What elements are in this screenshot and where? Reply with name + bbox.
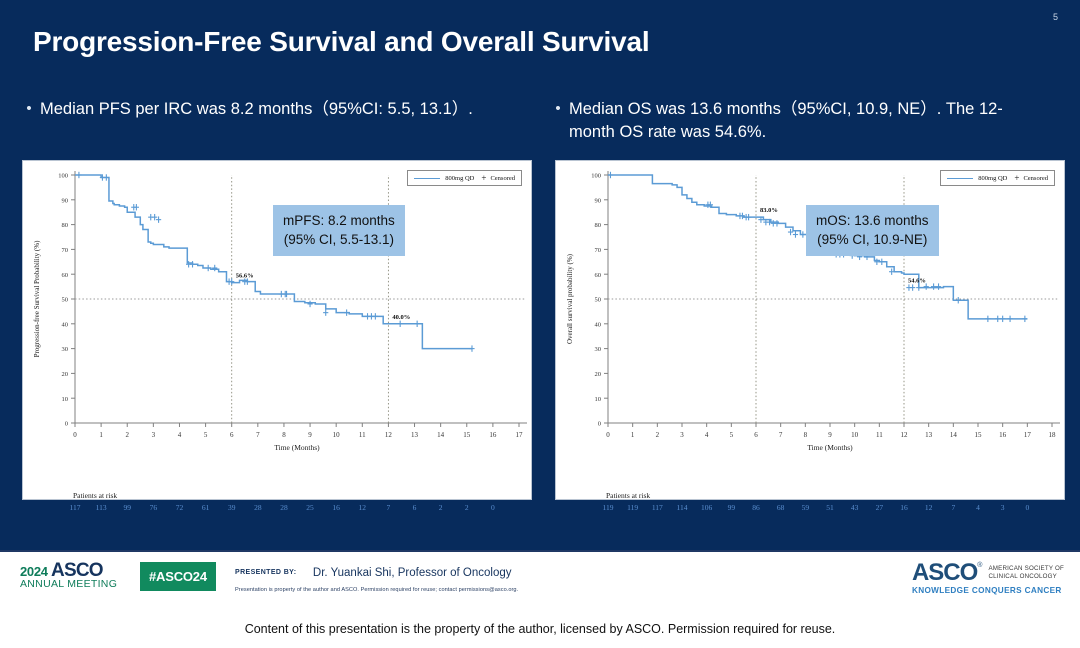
svg-text:40.0%: 40.0% bbox=[392, 314, 410, 321]
svg-text:13: 13 bbox=[925, 431, 933, 439]
legend-censored-label: Censored bbox=[490, 175, 515, 182]
svg-text:Overall survival probability (: Overall survival probability (%) bbox=[566, 253, 574, 344]
hashtag-badge: #ASCO24 bbox=[140, 562, 216, 591]
svg-text:5: 5 bbox=[204, 431, 208, 439]
legend-censored-icon: + bbox=[481, 173, 486, 183]
risk-value: 76 bbox=[150, 503, 158, 512]
permission-note: Presentation is property of the author a… bbox=[235, 587, 518, 593]
svg-text:17: 17 bbox=[1024, 431, 1032, 439]
svg-text:3: 3 bbox=[680, 431, 684, 439]
risk-value: 16 bbox=[332, 503, 340, 512]
risk-value: 51 bbox=[826, 503, 834, 512]
risk-value: 99 bbox=[728, 503, 736, 512]
asco-brand-logo: ASCO ® AMERICAN SOCIETY OF CLINICAL ONCO… bbox=[912, 562, 1064, 595]
svg-text:90: 90 bbox=[595, 197, 602, 204]
svg-text:50: 50 bbox=[62, 297, 69, 304]
risk-value: 12 bbox=[359, 503, 367, 512]
svg-text:10: 10 bbox=[62, 396, 69, 403]
risk-value: 86 bbox=[752, 503, 760, 512]
bullet-text-os: Median OS was 13.6 months（95%CI, 10.9, N… bbox=[569, 98, 1039, 144]
presenter-name: Dr. Yuankai Shi, Professor of Oncology bbox=[313, 567, 512, 579]
svg-text:83.0%: 83.0% bbox=[760, 207, 778, 214]
svg-text:8: 8 bbox=[804, 431, 808, 439]
risk-value: 6 bbox=[413, 503, 417, 512]
os-risk-values: 1191191171141069986685951432716127430 bbox=[556, 503, 1064, 515]
risk-value: 117 bbox=[70, 503, 81, 512]
risk-value: 0 bbox=[491, 503, 495, 512]
svg-text:10: 10 bbox=[333, 431, 341, 439]
svg-text:16: 16 bbox=[999, 431, 1007, 439]
risk-value: 25 bbox=[306, 503, 314, 512]
bullet-marker-icon: • bbox=[547, 98, 569, 144]
svg-text:80: 80 bbox=[595, 222, 602, 229]
page-number: 5 bbox=[1053, 12, 1058, 22]
asco-wordmark: ASCO bbox=[912, 562, 977, 584]
svg-text:12: 12 bbox=[901, 431, 909, 439]
bullet-item-os: • Median OS was 13.6 months（95%CI, 10.9,… bbox=[547, 98, 1062, 144]
svg-text:3: 3 bbox=[152, 431, 156, 439]
svg-text:16: 16 bbox=[489, 431, 497, 439]
svg-text:60: 60 bbox=[62, 272, 69, 279]
svg-text:4: 4 bbox=[705, 431, 709, 439]
legend-line-icon bbox=[414, 178, 440, 179]
svg-text:Time (Months): Time (Months) bbox=[274, 443, 320, 452]
registered-mark-icon: ® bbox=[977, 562, 982, 569]
legend-censored-label: Censored bbox=[1023, 175, 1048, 182]
asco-brand-subtitle: AMERICAN SOCIETY OF CLINICAL ONCOLOGY bbox=[988, 565, 1064, 580]
bullet-list: • Median PFS per IRC was 8.2 months（95%C… bbox=[18, 98, 1062, 144]
bullet-text-pfs: Median PFS per IRC was 8.2 months（95%CI:… bbox=[40, 98, 473, 144]
svg-text:17: 17 bbox=[516, 431, 524, 439]
svg-text:40: 40 bbox=[62, 321, 69, 328]
svg-text:20: 20 bbox=[62, 371, 69, 378]
legend-series-label: 800mg QD bbox=[445, 175, 474, 182]
risk-value: 7 bbox=[951, 503, 955, 512]
svg-text:0: 0 bbox=[606, 431, 610, 439]
svg-text:15: 15 bbox=[463, 431, 471, 439]
legend-censored-icon: + bbox=[1014, 173, 1019, 183]
svg-text:12: 12 bbox=[385, 431, 393, 439]
meeting-year: 2024 bbox=[20, 564, 48, 579]
svg-text:11: 11 bbox=[876, 431, 883, 439]
risk-value: 7 bbox=[387, 503, 391, 512]
risk-value: 12 bbox=[925, 503, 933, 512]
risk-value: 106 bbox=[701, 503, 712, 512]
svg-text:13: 13 bbox=[411, 431, 419, 439]
svg-text:100: 100 bbox=[58, 173, 68, 180]
svg-text:6: 6 bbox=[754, 431, 758, 439]
svg-text:30: 30 bbox=[595, 346, 602, 353]
svg-text:11: 11 bbox=[359, 431, 366, 439]
risk-value: 16 bbox=[900, 503, 908, 512]
svg-text:5: 5 bbox=[730, 431, 734, 439]
svg-text:56.6%: 56.6% bbox=[236, 273, 254, 280]
pfs-risk-title: Patients at risk bbox=[73, 491, 117, 500]
presented-by-label: PRESENTED BY: bbox=[235, 569, 296, 576]
os-callout: mOS: 13.6 months (95% CI, 10.9-NE) bbox=[806, 205, 939, 256]
meeting-sub: ANNUAL MEETING bbox=[20, 578, 117, 591]
svg-text:18: 18 bbox=[1049, 431, 1057, 439]
svg-text:7: 7 bbox=[779, 431, 783, 439]
svg-text:30: 30 bbox=[62, 346, 69, 353]
pfs-callout-line2: (95% CI, 5.5-13.1) bbox=[283, 230, 395, 249]
os-legend: 800mg QD + Censored bbox=[940, 170, 1055, 186]
risk-value: 114 bbox=[677, 503, 688, 512]
os-callout-line2: (95% CI, 10.9-NE) bbox=[816, 230, 929, 249]
risk-value: 72 bbox=[176, 503, 184, 512]
pfs-callout-line1: mPFS: 8.2 months bbox=[283, 211, 395, 230]
risk-value: 27 bbox=[876, 503, 884, 512]
svg-text:90: 90 bbox=[62, 197, 69, 204]
svg-text:50: 50 bbox=[595, 297, 602, 304]
risk-value: 28 bbox=[254, 503, 262, 512]
svg-text:40: 40 bbox=[595, 321, 602, 328]
risk-value: 39 bbox=[228, 503, 236, 512]
svg-text:4: 4 bbox=[178, 431, 182, 439]
risk-value: 117 bbox=[652, 503, 663, 512]
risk-value: 119 bbox=[627, 503, 638, 512]
svg-text:60: 60 bbox=[595, 272, 602, 279]
brand-sub-line2: CLINICAL ONCOLOGY bbox=[988, 573, 1057, 580]
chart-panel-os: 0102030405060708090100012345678910111213… bbox=[555, 160, 1065, 500]
legend-line-icon bbox=[947, 178, 973, 179]
svg-text:20: 20 bbox=[595, 371, 602, 378]
svg-text:80: 80 bbox=[62, 222, 69, 229]
risk-value: 68 bbox=[777, 503, 785, 512]
pfs-legend: 800mg QD + Censored bbox=[407, 170, 522, 186]
risk-value: 43 bbox=[851, 503, 859, 512]
risk-value: 4 bbox=[976, 503, 980, 512]
svg-text:1: 1 bbox=[99, 431, 103, 439]
os-risk-title: Patients at risk bbox=[606, 491, 650, 500]
presenter-block: PRESENTED BY: Dr. Yuankai Shi, Professor… bbox=[235, 564, 518, 593]
svg-text:Progression-free Survival Prob: Progression-free Survival Probability (%… bbox=[33, 240, 41, 358]
risk-value: 28 bbox=[280, 503, 288, 512]
svg-text:15: 15 bbox=[975, 431, 983, 439]
svg-text:2: 2 bbox=[656, 431, 660, 439]
license-text: Content of this presentation is the prop… bbox=[0, 622, 1080, 636]
risk-value: 2 bbox=[439, 503, 443, 512]
svg-text:7: 7 bbox=[256, 431, 260, 439]
risk-value: 3 bbox=[1001, 503, 1005, 512]
footer-divider bbox=[0, 550, 1080, 552]
risk-value: 2 bbox=[465, 503, 469, 512]
page-title: Progression-Free Survival and Overall Su… bbox=[33, 26, 649, 58]
svg-text:70: 70 bbox=[595, 247, 602, 254]
svg-text:70: 70 bbox=[62, 247, 69, 254]
svg-text:9: 9 bbox=[308, 431, 312, 439]
risk-value: 113 bbox=[96, 503, 107, 512]
pfs-risk-values: 1171139976726139282825161276220 bbox=[23, 503, 531, 515]
chart-panel-pfs: 0102030405060708090100012345678910111213… bbox=[22, 160, 532, 500]
svg-text:8: 8 bbox=[282, 431, 286, 439]
asco-tagline: KNOWLEDGE CONQUERS CANCER bbox=[912, 586, 1064, 595]
svg-text:10: 10 bbox=[595, 396, 602, 403]
svg-text:54.6%: 54.6% bbox=[908, 278, 926, 285]
svg-text:2: 2 bbox=[125, 431, 129, 439]
svg-text:9: 9 bbox=[828, 431, 832, 439]
svg-text:6: 6 bbox=[230, 431, 234, 439]
legend-series-label: 800mg QD bbox=[978, 175, 1007, 182]
svg-text:0: 0 bbox=[65, 421, 68, 428]
svg-text:10: 10 bbox=[851, 431, 859, 439]
risk-value: 99 bbox=[123, 503, 131, 512]
svg-text:0: 0 bbox=[598, 421, 601, 428]
bullet-marker-icon: • bbox=[18, 98, 40, 144]
asco-annual-meeting-logo: 2024 ASCO ANNUAL MEETING bbox=[20, 564, 117, 591]
risk-value: 61 bbox=[202, 503, 210, 512]
brand-sub-line1: AMERICAN SOCIETY OF bbox=[988, 565, 1064, 572]
svg-text:14: 14 bbox=[437, 431, 445, 439]
pfs-callout: mPFS: 8.2 months (95% CI, 5.5-13.1) bbox=[273, 205, 405, 256]
svg-text:1: 1 bbox=[631, 431, 635, 439]
slide-footer: 2024 ASCO ANNUAL MEETING #ASCO24 PRESENT… bbox=[0, 550, 1080, 648]
risk-value: 59 bbox=[802, 503, 810, 512]
bullet-item-pfs: • Median PFS per IRC was 8.2 months（95%C… bbox=[18, 98, 533, 144]
risk-value: 119 bbox=[603, 503, 614, 512]
slide-root: 5 Progression-Free Survival and Overall … bbox=[0, 0, 1080, 648]
os-callout-line1: mOS: 13.6 months bbox=[816, 211, 929, 230]
svg-text:0: 0 bbox=[73, 431, 77, 439]
svg-text:Time (Months): Time (Months) bbox=[807, 443, 853, 452]
risk-value: 0 bbox=[1025, 503, 1029, 512]
svg-text:100: 100 bbox=[591, 173, 601, 180]
svg-text:14: 14 bbox=[950, 431, 958, 439]
